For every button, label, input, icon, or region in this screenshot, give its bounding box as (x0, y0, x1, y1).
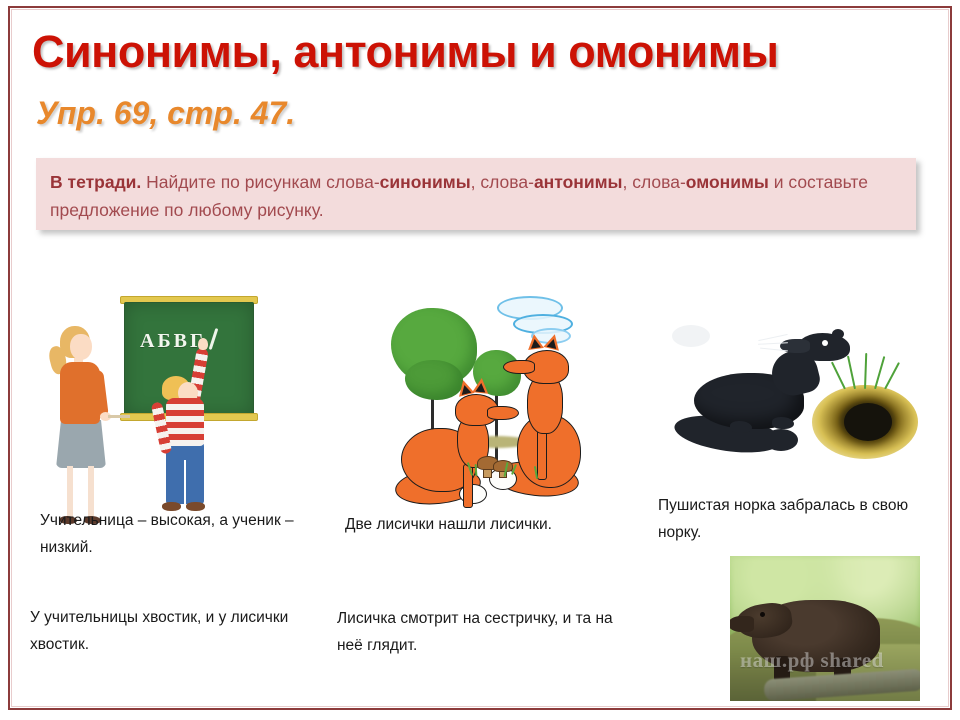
mink-photograph: наш.рф shared (730, 556, 920, 701)
grass-blade (847, 356, 856, 390)
caption-synonyms-looks: Лисичка смотрит на сестричку, и та на не… (337, 606, 637, 659)
mink-paw (772, 417, 794, 429)
photo-watermark: наш.рф shared (740, 648, 920, 673)
column-foxes (385, 280, 665, 495)
tree-foliage (405, 360, 463, 400)
grass-blade (884, 362, 900, 389)
photo-mink-snout (730, 616, 754, 632)
mink-ear (832, 329, 844, 339)
photo-mink-eye (760, 612, 765, 617)
task-term-synonyms: синонимы (380, 172, 471, 192)
burrow-hole (844, 403, 892, 441)
task-part-1: Найдите по рисункам слова- (141, 172, 379, 192)
column-mink (672, 325, 922, 490)
column-antonyms: АБВГ (36, 290, 326, 495)
mink-tail-tip (764, 429, 798, 451)
mink-belly (672, 325, 710, 347)
caption-homonyms-mink: Пушистая норка забралась в свою норку. (658, 493, 928, 546)
task-term-homonyms: омонимы (686, 172, 769, 192)
mink-whisker (758, 334, 788, 341)
task-part-2: , слова- (471, 172, 534, 192)
task-term-antonyms: антонимы (534, 172, 623, 192)
task-lead: В тетради. (50, 172, 141, 192)
teacher-pointer-stick (108, 415, 130, 418)
fox-ear (543, 332, 562, 350)
pupil-striped-shirt (166, 398, 204, 446)
caption-homonyms-tail: У учительницы хвостик, и у лисички хвост… (30, 605, 330, 658)
fox-snout (503, 360, 535, 374)
grass-blade (831, 362, 846, 390)
mink-eye (822, 340, 828, 346)
blackboard-illustration: АБВГ (36, 290, 301, 495)
pupil-jeans-split (184, 460, 186, 504)
fox-ear (472, 377, 489, 394)
grass-blade (864, 353, 867, 389)
fox-leg (537, 430, 547, 480)
caption-homonyms-foxes: Две лисички нашли лисички. (345, 512, 595, 539)
task-instruction-box: В тетради. Найдите по рисункам слова-син… (36, 158, 916, 230)
fox-ear (526, 333, 544, 350)
pupil-hand (198, 338, 208, 350)
chalkboard-letters: АБВГ (140, 330, 206, 353)
mushroom-cap (493, 460, 513, 472)
grass-blade (874, 356, 885, 389)
page-subtitle: Упр. 69, стр. 47. (36, 95, 295, 132)
tree-trunk (495, 388, 498, 466)
foxes-illustration (385, 280, 650, 495)
mink-paw (730, 421, 752, 433)
page-title: Синонимы, антонимы и омонимы (32, 26, 778, 78)
fox-snout (487, 406, 519, 420)
teacher-face (70, 334, 92, 360)
caption-antonyms: Учительница – высокая, а ученик – низкий… (40, 508, 310, 561)
mink-illustration (672, 325, 922, 490)
slide: Синонимы, антонимы и омонимы Упр. 69, ст… (0, 0, 960, 720)
mink-figure (672, 325, 922, 347)
task-instruction-text: В тетради. Найдите по рисункам слова-син… (50, 168, 902, 225)
task-part-3: , слова- (623, 172, 686, 192)
teacher-skirt (56, 420, 106, 468)
